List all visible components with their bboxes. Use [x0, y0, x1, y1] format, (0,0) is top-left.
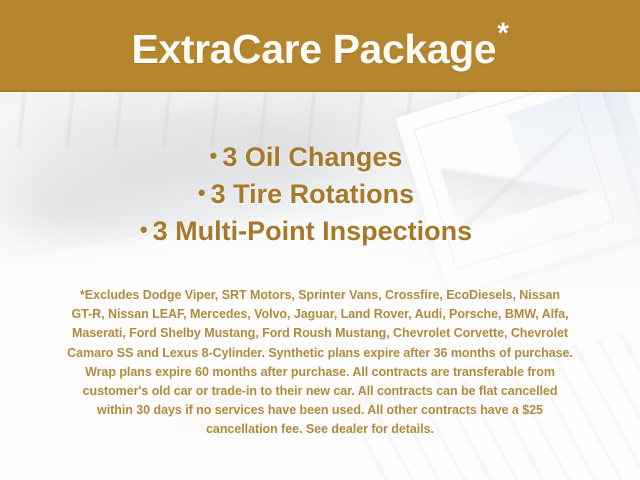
list-item: •3 Oil Changes [0, 138, 612, 175]
page-title-text: ExtraCare Package [131, 26, 496, 72]
list-item-label: 3 Multi-Point Inspections [153, 216, 473, 246]
bullet-dot-icon: • [210, 143, 218, 168]
disclaimer-line: Camaro SS and Lexus 8-Cylinder. Syntheti… [30, 344, 610, 363]
disclaimer-line: customer's old car or trade-in to their … [30, 382, 610, 401]
benefits-list: •3 Oil Changes •3 Tire Rotations •3 Mult… [0, 138, 640, 249]
disclaimer-line: cancellation fee. See dealer for details… [30, 420, 610, 439]
disclaimer-line: within 30 days if no services have been … [30, 401, 610, 420]
bullet-dot-icon: • [198, 180, 206, 205]
bullet-dot-icon: • [140, 217, 148, 242]
disclaimer-line: GT-R, Nissan LEAF, Mercedes, Volvo, Jagu… [30, 305, 610, 324]
extracare-package-poster: ExtraCare Package* •3 Oil Changes •3 Tir… [0, 0, 640, 480]
list-item: •3 Tire Rotations [0, 175, 612, 212]
page-title: ExtraCare Package* [131, 19, 508, 72]
disclaimer-line: Maserati, Ford Shelby Mustang, Ford Rous… [30, 324, 610, 343]
list-item-label: 3 Tire Rotations [211, 179, 415, 209]
disclaimer-line: *Excludes Dodge Viper, SRT Motors, Sprin… [30, 286, 610, 305]
disclaimer-text: *Excludes Dodge Viper, SRT Motors, Sprin… [30, 286, 610, 440]
header-band: ExtraCare Package* [0, 0, 640, 92]
list-item: •3 Multi-Point Inspections [0, 212, 612, 249]
list-item-label: 3 Oil Changes [222, 142, 402, 172]
disclaimer-line: Wrap plans expire 60 months after purcha… [30, 363, 610, 382]
page-title-asterisk: * [497, 17, 508, 50]
